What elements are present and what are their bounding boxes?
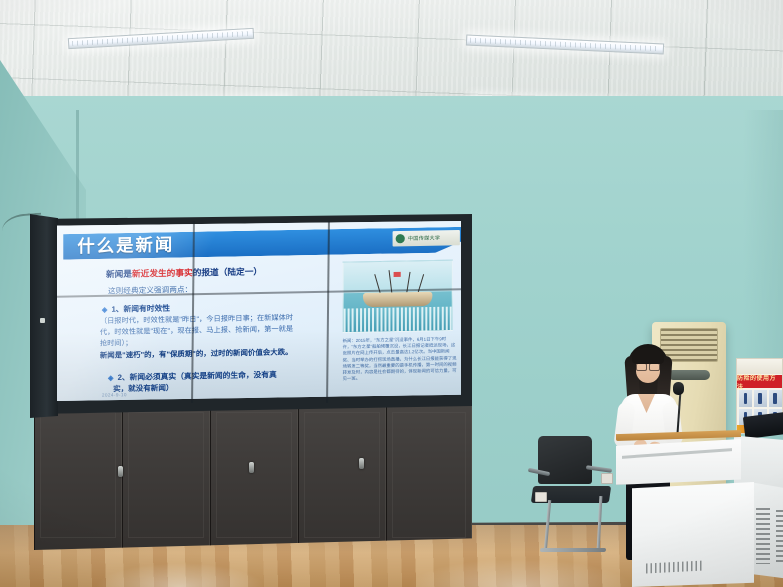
cabinet-handle-1[interactable] — [118, 466, 123, 477]
video-wall-screen[interactable]: 什么是新闻 中国传媒大学 新闻是新近发生的事实的报道（陆定一） 这则经典定义强调… — [57, 221, 461, 401]
podium-side-panel — [734, 432, 783, 490]
lead-highlight-1: 新近发生的 — [132, 268, 175, 279]
lead-prefix: 新闻是 — [106, 269, 132, 280]
poster-step-3 — [769, 390, 782, 407]
classroom-scene: 什么是新闻 中国传媒大学 新闻是新近发生的事实的报道（陆定一） 这则经典定义强调… — [0, 0, 783, 587]
cabinet-handle-3[interactable] — [359, 458, 364, 469]
poster-title: 防险的使用方法 — [737, 375, 782, 388]
lead-suffix: 的报道（陆定一） — [193, 266, 262, 277]
photo-flag-icon — [393, 272, 400, 277]
chair-base — [540, 548, 607, 552]
microphone-icon[interactable] — [673, 382, 684, 395]
slide-lead-line: 新闻是新近发生的事实的报道（陆定一） — [106, 265, 262, 280]
university-logo: 中国传媒大学 — [393, 230, 460, 247]
video-wall-indicator — [40, 318, 45, 323]
slide-body-strong: 新闻是"速朽"的，有"保质期"的，过时的新闻价值会大跌。 — [100, 346, 304, 361]
presenter-hair-front — [632, 348, 664, 364]
slide-photo-caption: 新闻：2015年，"东方之星"沉没事件，6月1日下午9时许，"东方之星"船舶倾覆… — [343, 336, 457, 382]
slide-body-paragraph: （日报时代，时效性就是"昨日"，今日报昨日事；在新媒体时代，时效性就是"现在"，… — [100, 312, 300, 350]
presentation-slide: 什么是新闻 中国传媒大学 新闻是新近发生的事实的报道（陆定一） 这则经典定义强调… — [57, 221, 461, 401]
video-wall-left-bezel — [30, 212, 58, 418]
lectern-podium[interactable] — [616, 430, 783, 587]
photo-ship-hull — [363, 292, 432, 307]
chair-leg-rear — [597, 496, 603, 552]
slide-photo-ship — [343, 260, 453, 333]
poster-step-2 — [754, 390, 767, 407]
storage-cabinet[interactable] — [34, 404, 472, 550]
lead-highlight-2: 事实 — [175, 267, 192, 278]
podium-vent-side-2 — [776, 510, 783, 564]
cabinet-handle-2[interactable] — [249, 462, 254, 473]
cabinet-door-2[interactable] — [122, 404, 210, 550]
logo-text: 中国传媒大学 — [408, 234, 440, 242]
poster-step-1 — [739, 390, 752, 407]
cabinet-door-4[interactable] — [298, 404, 386, 550]
slide-title: 什么是新闻 — [77, 232, 291, 258]
wall-socket-1[interactable] — [601, 473, 613, 484]
wall-socket-2[interactable] — [535, 492, 547, 502]
cabinet-door-3[interactable] — [210, 404, 298, 550]
cabinet-door-5[interactable] — [386, 404, 472, 550]
chair-backrest — [538, 436, 592, 484]
cabinet-door-1[interactable] — [34, 404, 122, 550]
photo-water-foreground — [344, 306, 452, 332]
chair-leg-front — [544, 500, 552, 552]
podium-front-panel — [616, 439, 741, 485]
slide-footer-date: 2024-9-10 — [102, 392, 127, 398]
podium-vent-side-1 — [756, 508, 770, 564]
logo-mark-icon — [396, 234, 405, 243]
slide-bullet-1: 1、新闻有时效性 — [102, 303, 170, 315]
